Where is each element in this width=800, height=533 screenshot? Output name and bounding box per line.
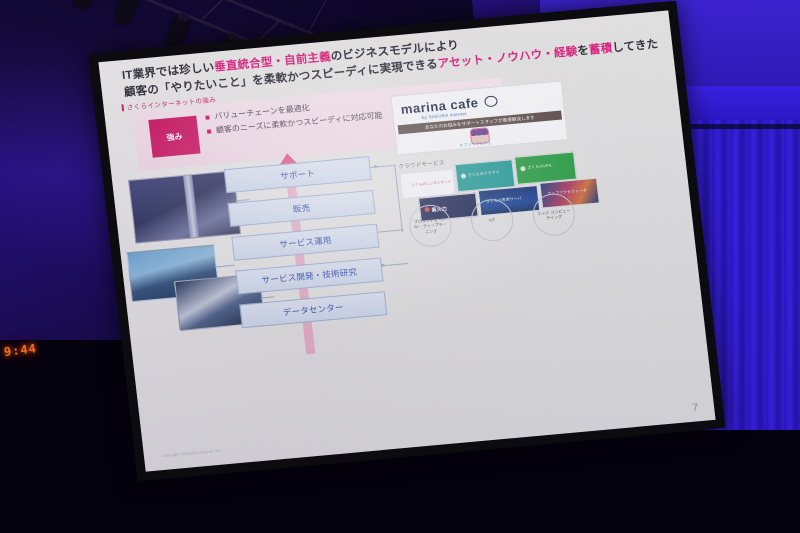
tech-circle: ブロックチェーン AI・ ディープラーニング [407,203,454,249]
tech-circle: エッジ コンピュー ティング [531,192,578,238]
tech-circle: IoT [469,197,516,243]
connector-line [378,229,404,232]
value-chain-box: データセンター [239,291,387,328]
page-number: 7 [692,402,699,413]
arrow-head-icon [381,263,385,267]
service-tile-label: さくらのVPS [527,164,552,171]
value-chain-boxes: サポート 販売 サービス運用 サービス開発・技術研究 データセンター [224,156,389,338]
connector-line [215,265,235,268]
marina-cafe-loop-icon [484,95,498,107]
kicker-tick-icon [121,104,124,111]
strength-badge: 強み [148,116,200,158]
projection-screen: IT業界では珍しい垂直統合型・自前主義のビジネスモデルにより 顧客の「やりたいこ… [88,1,725,482]
stage-light-icon [72,0,99,10]
presentation-slide: IT業界では珍しい垂直統合型・自前主義のビジネスモデルにより 顧客の「やりたいこ… [98,10,715,471]
service-tile-label: さくらのクラウド [468,170,500,178]
logo-mark-icon [461,173,467,178]
arrow-head-icon [374,164,378,168]
services-column: marina cafe by SAKURA internet あなたのお悩みをサ… [390,79,580,173]
slide-footer: Copyright SAKURA internet Inc. [162,449,222,458]
value-chain-box: 販売 [227,190,375,227]
service-tile-label: さくらのレンタルサーバ [411,180,451,189]
screen-frame: IT業界では珍しい垂直統合型・自前主義のビジネスモデルにより 顧客の「やりたいこ… [88,1,725,482]
logo-mark-icon [520,166,526,171]
value-chain-box: サービス運用 [231,224,379,261]
marina-cafe-caption: ＃マリナでカフェ [459,140,492,149]
value-chain-box: サポート [224,156,372,193]
value-chain-box: サービス開発・技術研究 [235,257,383,294]
stage-light-icon [112,0,139,27]
conference-stage: 9:44 IT業界では珍しい垂直統合型・自前主義のビジネスモデルにより 顧客の「… [0,0,800,533]
